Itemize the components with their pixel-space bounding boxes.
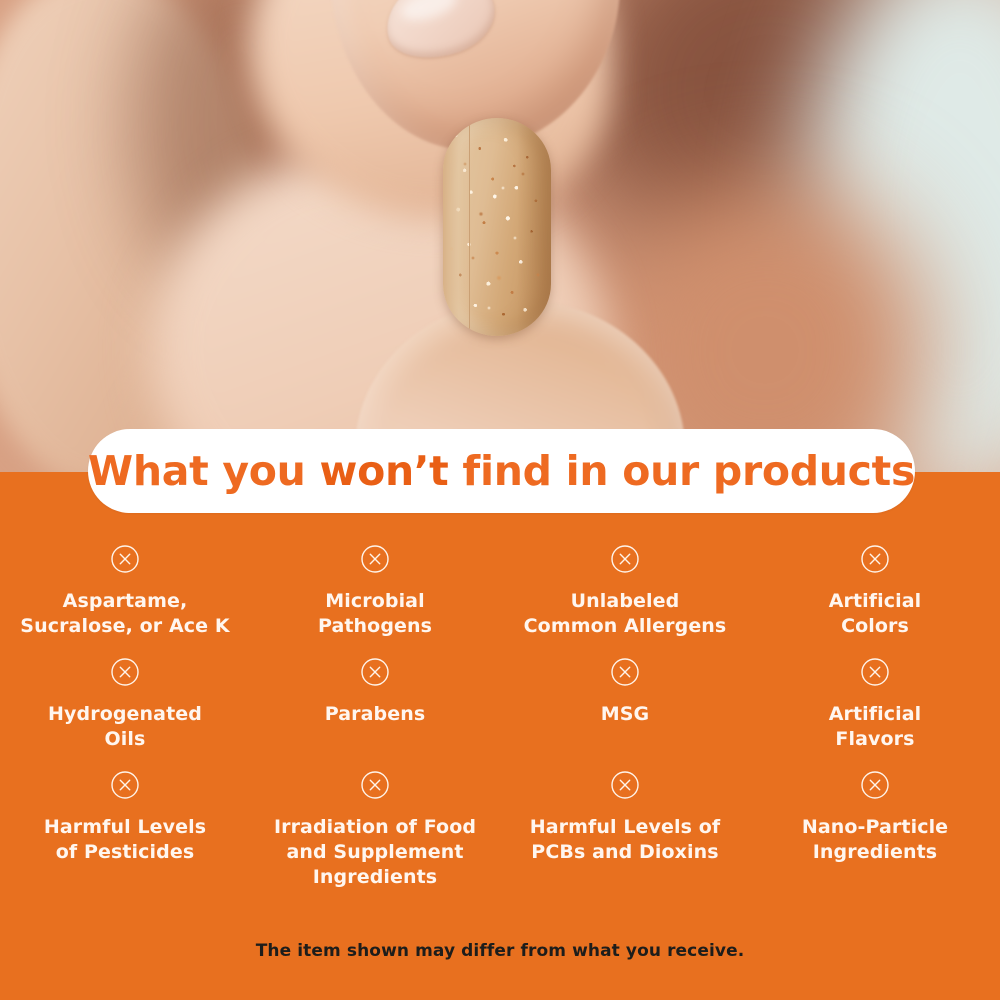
excluded-ingredient-label-parabens: Parabens	[325, 702, 426, 727]
excluded-ingredient-item-harmful-levels-of-pcbs-and-dioxins: Harmful Levels of PCBs and Dioxins	[500, 760, 750, 890]
excluded-ingredient-label-artificial-flavors: Artificial Flavors	[829, 702, 922, 752]
excluded-ingredient-item-unlabeled-common-allergens: Unlabeled Common Allergens	[500, 534, 750, 647]
page-title: What you won’t find in our products	[88, 447, 915, 495]
excluded-ingredient-item-aspartame-sucralose-ace-k: Aspartame, Sucralose, or Ace K	[0, 534, 250, 647]
supplement-tablet	[443, 118, 551, 336]
excluded-ingredient-label-microbial-pathogens: Microbial Pathogens	[318, 589, 432, 639]
disclaimer-text: The item shown may differ from what you …	[0, 941, 1000, 961]
excluded-ingredient-item-harmful-levels-of-pesticides: Harmful Levels of Pesticides	[0, 760, 250, 890]
excluded-ingredient-item-parabens: Parabens	[250, 647, 500, 760]
excluded-ingredient-label-irradiation-of-food-and-supplement-ingredients: Irradiation of Food and Supplement Ingre…	[274, 815, 476, 890]
circle-x-icon	[110, 657, 140, 687]
title-card: What you won’t find in our products	[88, 429, 915, 513]
excluded-ingredient-label-hydrogenated-oils: Hydrogenated Oils	[48, 702, 202, 752]
excluded-ingredient-label-harmful-levels-of-pesticides: Harmful Levels of Pesticides	[44, 815, 206, 865]
excluded-ingredient-label-aspartame-sucralose-ace-k: Aspartame, Sucralose, or Ace K	[20, 589, 229, 639]
excluded-ingredients-grid: Aspartame, Sucralose, or Ace K Microbial…	[0, 534, 1000, 890]
excluded-ingredient-item-msg: MSG	[500, 647, 750, 760]
circle-x-icon	[860, 544, 890, 574]
tablet-right-shading	[517, 118, 551, 336]
excluded-ingredient-item-microbial-pathogens: Microbial Pathogens	[250, 534, 500, 647]
excluded-ingredient-label-harmful-levels-of-pcbs-and-dioxins: Harmful Levels of PCBs and Dioxins	[530, 815, 721, 865]
circle-x-icon	[610, 544, 640, 574]
excluded-ingredient-label-artificial-colors: Artificial Colors	[829, 589, 922, 639]
excluded-ingredient-label-msg: MSG	[601, 702, 650, 727]
title-part-emphasis: won’t	[320, 447, 449, 495]
excluded-ingredient-label-unlabeled-common-allergens: Unlabeled Common Allergens	[524, 589, 727, 639]
circle-x-icon	[360, 770, 390, 800]
hero-photo	[0, 0, 1000, 472]
circle-x-icon	[860, 770, 890, 800]
title-part-after: find in our products	[448, 447, 915, 495]
excluded-ingredient-item-nano-particle-ingredients: Nano-Particle Ingredients	[750, 760, 1000, 890]
title-part-before: What you	[88, 447, 320, 495]
circle-x-icon	[610, 770, 640, 800]
circle-x-icon	[110, 770, 140, 800]
circle-x-icon	[360, 657, 390, 687]
excluded-ingredient-item-irradiation-of-food-and-supplement-ingredients: Irradiation of Food and Supplement Ingre…	[250, 760, 500, 890]
excluded-ingredient-label-nano-particle-ingredients: Nano-Particle Ingredients	[802, 815, 948, 865]
circle-x-icon	[860, 657, 890, 687]
circle-x-icon	[360, 544, 390, 574]
circle-x-icon	[610, 657, 640, 687]
excluded-ingredient-item-hydrogenated-oils: Hydrogenated Oils	[0, 647, 250, 760]
tablet-left-edge	[443, 118, 470, 336]
product-claims-infographic: What you won’t find in our products Aspa…	[0, 0, 1000, 1000]
excluded-ingredient-item-artificial-colors: Artificial Colors	[750, 534, 1000, 647]
excluded-ingredient-item-artificial-flavors: Artificial Flavors	[750, 647, 1000, 760]
circle-x-icon	[110, 544, 140, 574]
